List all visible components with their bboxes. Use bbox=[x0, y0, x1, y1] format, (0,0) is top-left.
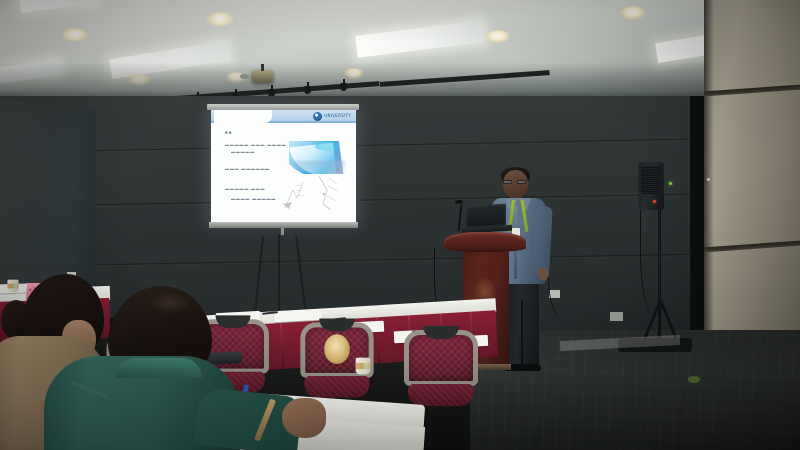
slide-title-tab bbox=[214, 110, 272, 123]
polo-collar bbox=[116, 358, 202, 378]
stapler bbox=[208, 351, 243, 365]
conference-room-photo: UNIVERSITY ■■ ▬▬▬▬▬ ▬▬▬ ▬▬▬▬ ▬▬▬▬▬ ▬▬▬ ▬… bbox=[0, 0, 800, 450]
plant-leaf bbox=[688, 376, 700, 383]
column-fixture-dot bbox=[707, 178, 710, 181]
track-spotlight bbox=[340, 83, 347, 91]
presentation-slide: UNIVERSITY ■■ ▬▬▬▬▬ ▬▬▬ ▬▬▬▬ ▬▬▬▬▬ ▬▬▬ ▬… bbox=[211, 110, 356, 222]
ceiling-downlight bbox=[486, 30, 510, 43]
slide-bullet: ▬▬▬▬ ▬▬▬▬▬ bbox=[231, 196, 276, 201]
microphone-icon bbox=[455, 200, 463, 204]
chair-sticker bbox=[324, 334, 350, 364]
slide-heading: ■■ bbox=[225, 130, 232, 135]
ceiling-downlight bbox=[62, 28, 88, 42]
pa-power-led bbox=[669, 182, 672, 185]
slide-sketch-right bbox=[315, 174, 343, 212]
audience-man-hair-highlight bbox=[148, 292, 192, 314]
university-logo: UNIVERSITY bbox=[313, 112, 351, 121]
projection-screen[interactable]: UNIVERSITY ■■ ▬▬▬▬▬ ▬▬▬ ▬▬▬▬ ▬▬▬▬▬ ▬▬▬ ▬… bbox=[211, 110, 356, 222]
presenter-leg-seam bbox=[521, 300, 523, 366]
wall-outlet bbox=[610, 312, 623, 321]
presenter-shoe bbox=[522, 364, 541, 371]
slide-bullet: ▬▬▬ ▬▬▬▬▬▬ bbox=[225, 166, 270, 171]
screen-stand-pole bbox=[278, 234, 280, 314]
chair-seat bbox=[408, 384, 474, 406]
presenter-hand bbox=[538, 268, 549, 280]
track-spotlight bbox=[304, 86, 311, 94]
wave-spray bbox=[293, 161, 345, 174]
wave-crest bbox=[315, 142, 345, 151]
slide-bullet: ▬▬▬▬▬ bbox=[231, 149, 255, 154]
pa-status-led bbox=[653, 200, 656, 203]
eyeglasses-icon bbox=[503, 180, 527, 184]
slide-wave-image bbox=[289, 141, 347, 174]
ceiling-downlight bbox=[620, 6, 646, 20]
ceiling-downlight bbox=[206, 12, 234, 27]
university-logo-text: UNIVERSITY bbox=[324, 114, 351, 118]
paper-cup bbox=[356, 358, 371, 375]
university-logo-mark bbox=[313, 112, 322, 121]
banquet-chair[interactable] bbox=[404, 330, 478, 410]
slide-sketch-left bbox=[283, 178, 309, 212]
slide-bullet: ▬▬▬▬▬ ▬▬▬ ▬▬▬▬ bbox=[225, 142, 286, 147]
chair-seat bbox=[304, 376, 369, 398]
screen-pull-cord bbox=[281, 228, 284, 235]
slide-bullet: ▬▬▬▬▬ ▬▬▬ bbox=[225, 186, 265, 191]
audience-man-hand bbox=[282, 398, 326, 438]
paper-cup bbox=[7, 280, 18, 293]
pa-speaker-grill bbox=[641, 166, 661, 194]
presenter-arm bbox=[532, 206, 553, 275]
